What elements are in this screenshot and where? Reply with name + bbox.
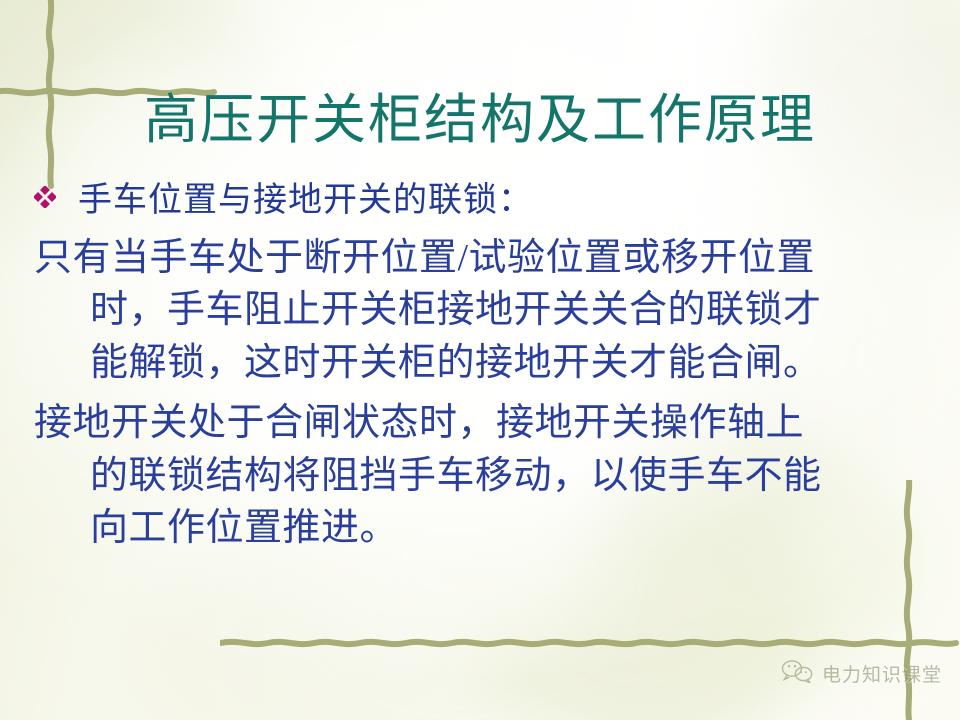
watermark-label: 电力知识课堂 (822, 660, 942, 687)
paragraph-2-line-3: 向工作位置推进。 (34, 502, 934, 554)
slide-title: 高压开关柜结构及工作原理 (0, 92, 960, 149)
bullet-item-label: 手车位置与接地开关的联锁： (78, 180, 533, 221)
paragraph-1-line-1: 只有当手车处于断开位置/试验位置或移开位置 (34, 232, 934, 284)
paragraph-2: 接地开关处于合闸状态时，接地开关操作轴上 的联锁结构将阻挡手车移动，以使手车不能… (34, 397, 934, 554)
paragraph-2-line-1: 接地开关处于合闸状态时，接地开关操作轴上 (34, 397, 934, 449)
watermark: 电力知识课堂 (780, 659, 942, 688)
slide-canvas: 高压开关柜结构及工作原理 手车位置与接地开关的联锁： 只有当手车处于断开位置/试… (0, 0, 960, 720)
paragraph-1-line-2: 时，手车阻止开关柜接地开关关合的联锁才 (34, 284, 934, 336)
bullet-item: 手车位置与接地开关的联锁： (34, 180, 934, 226)
paragraph-1-line-3: 能解锁，这时开关柜的接地开关才能合闸。 (34, 337, 934, 389)
paragraph-2-line-2: 的联锁结构将阻挡手车移动，以使手车不能 (34, 450, 934, 502)
paragraph-1: 只有当手车处于断开位置/试验位置或移开位置 时，手车阻止开关柜接地开关关合的联锁… (34, 232, 934, 389)
wechat-icon (780, 659, 814, 688)
slide-body: 手车位置与接地开关的联锁： 只有当手车处于断开位置/试验位置或移开位置 时，手车… (34, 180, 934, 557)
diamond-bullet-icon (34, 186, 56, 226)
